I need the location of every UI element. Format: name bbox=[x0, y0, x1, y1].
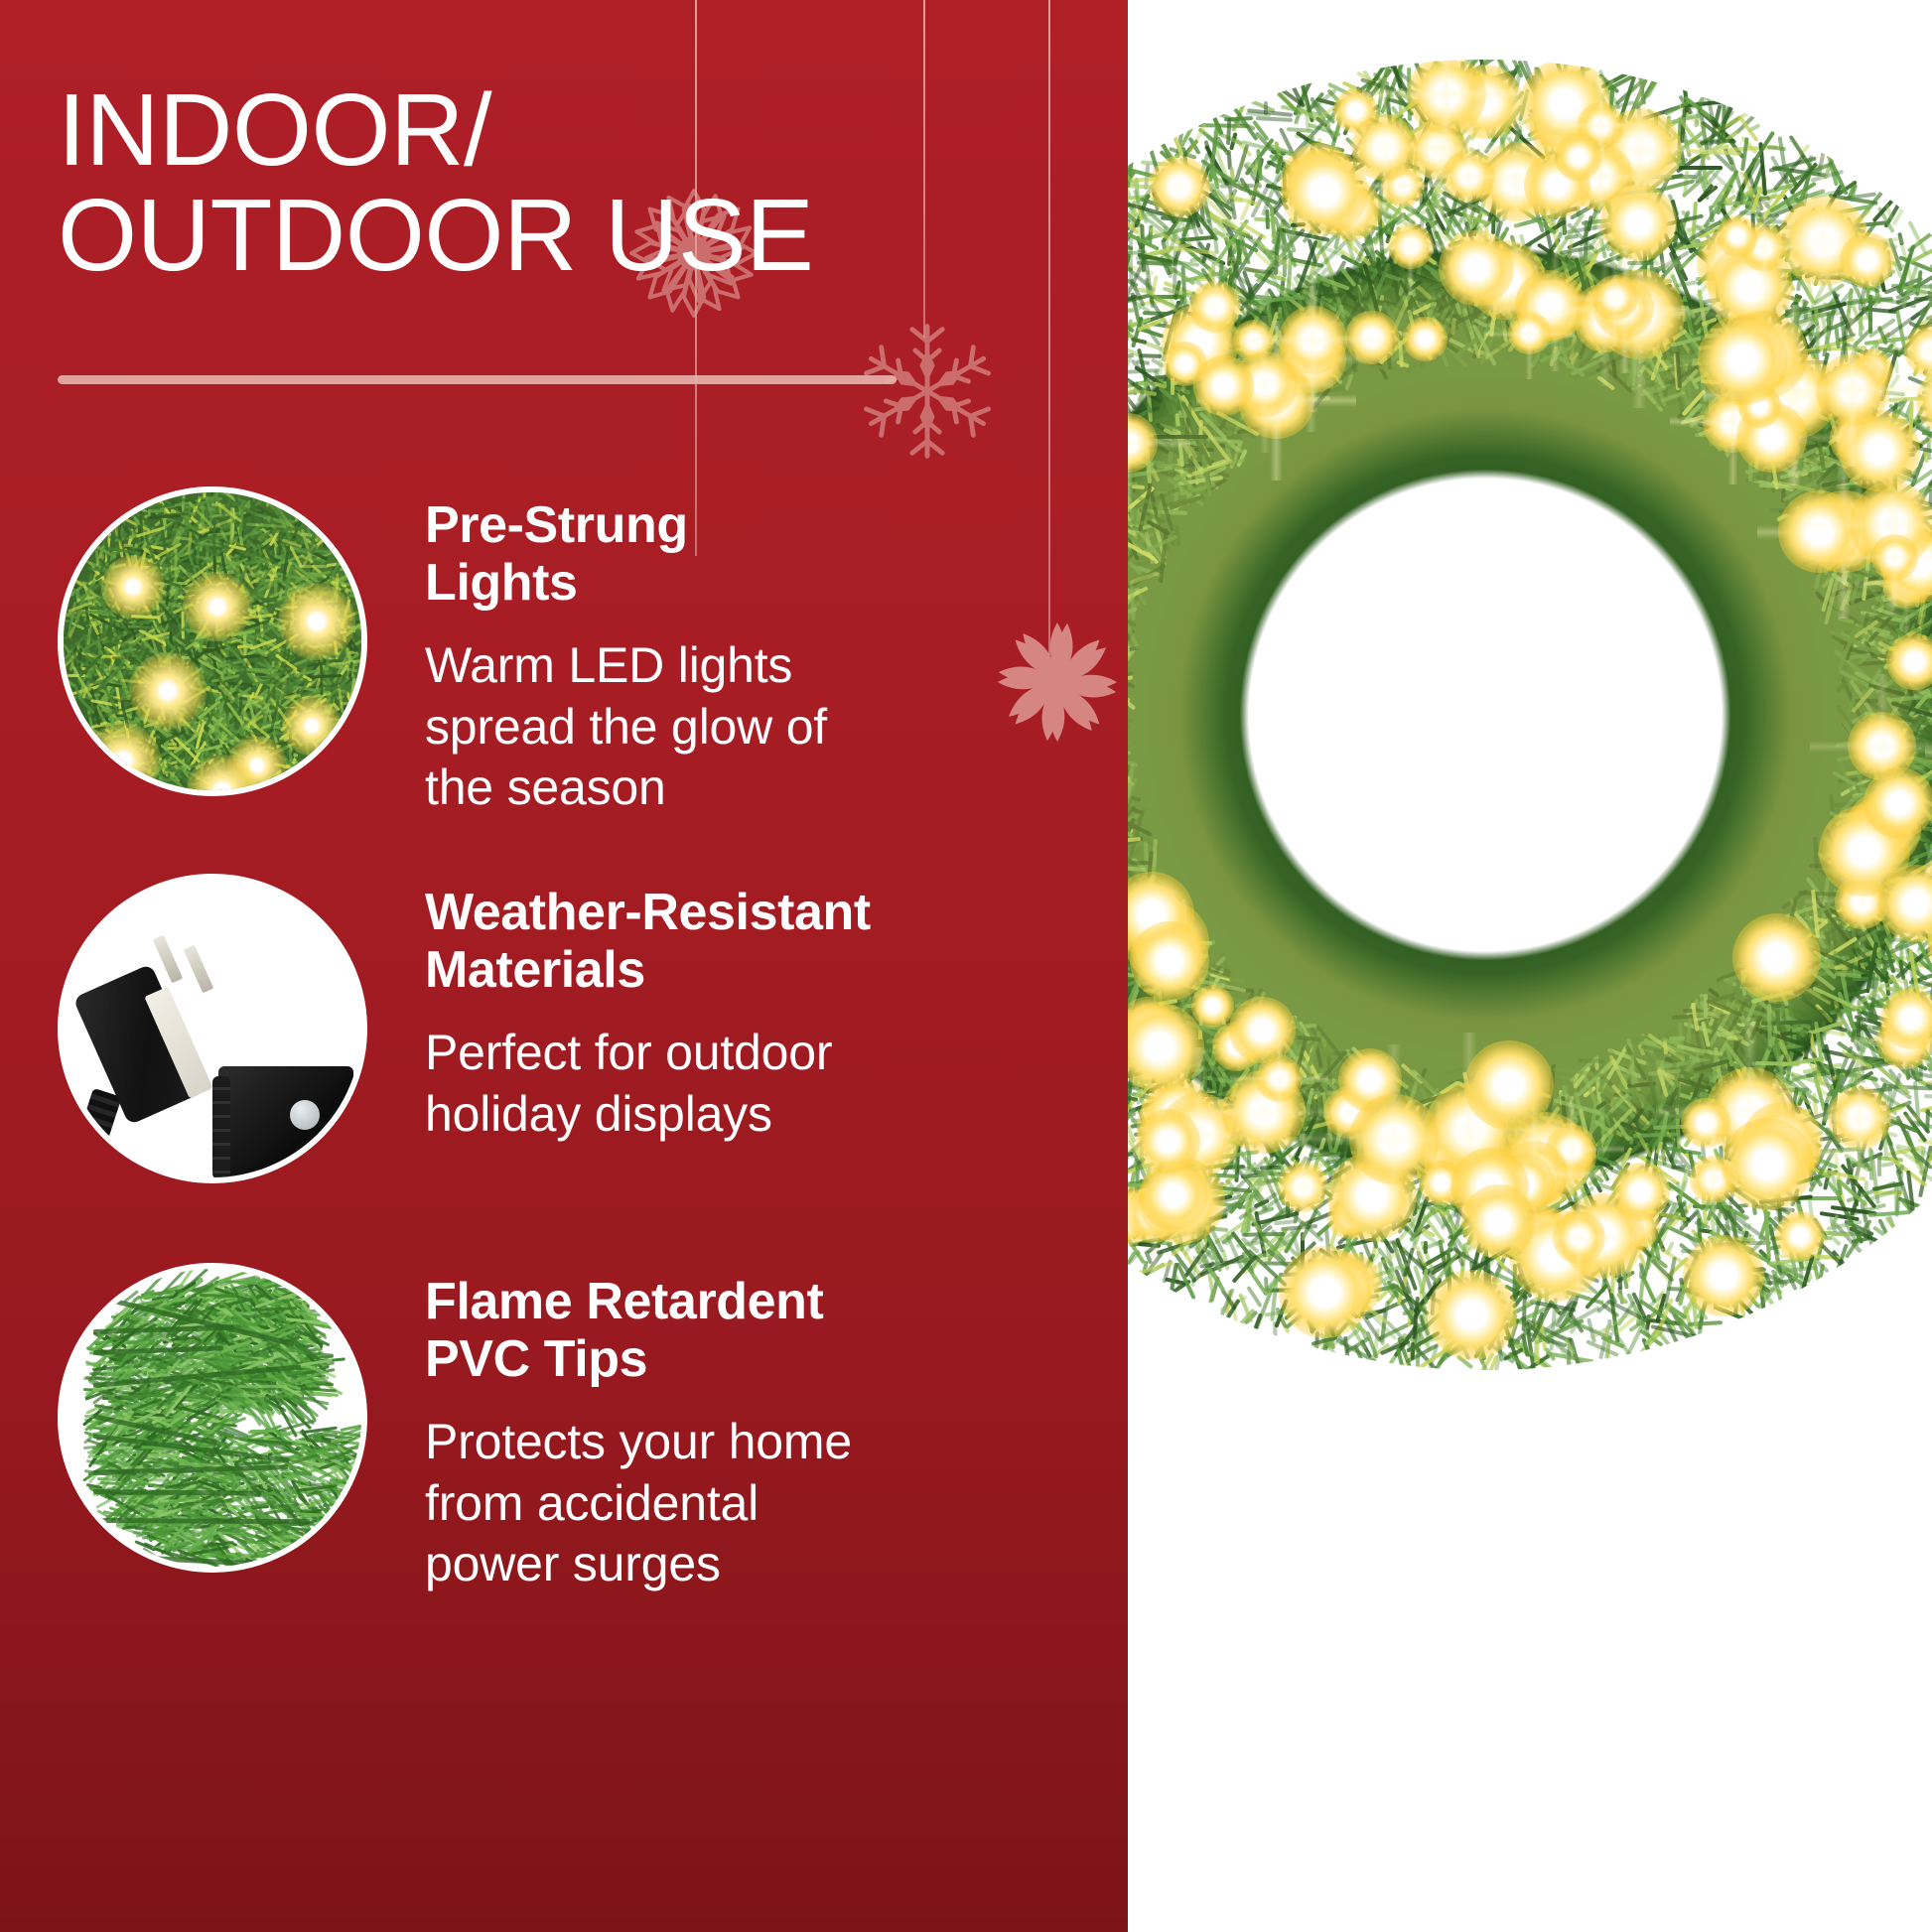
feature-text-block: Pre-Strung Lights Warm LED lights spread… bbox=[425, 486, 1021, 819]
prelit-christmas-wreath bbox=[1128, 60, 1932, 1370]
plug-prong-2 bbox=[184, 945, 213, 994]
power-cord bbox=[63, 1088, 121, 1183]
title-block: INDOOR/ OUTDOOR USE bbox=[58, 77, 1050, 288]
feature-body: Warm LED lights spread the glow of the s… bbox=[425, 635, 1021, 819]
feature-heading: Weather-Resistant Materials bbox=[425, 884, 1021, 999]
red-feature-panel: INDOOR/ OUTDOOR USE Pre-Strung Lights Wa… bbox=[0, 0, 1128, 1932]
plug-prong-1 bbox=[153, 935, 183, 984]
hero-image-area bbox=[1128, 0, 1932, 1932]
feature-body: Perfect for outdoor holiday displays bbox=[425, 1023, 1021, 1145]
page-title: INDOOR/ OUTDOOR USE bbox=[58, 77, 1050, 288]
feature-text-block: Weather-Resistant Materials Perfect for … bbox=[425, 874, 1021, 1145]
feature-text-block: Flame Retardent PVC Tips Protects your h… bbox=[425, 1263, 1021, 1595]
title-divider bbox=[58, 375, 897, 384]
feature-body: Protects your home from accidental power… bbox=[425, 1412, 1021, 1595]
control-box-ridge bbox=[212, 1076, 230, 1179]
control-button[interactable] bbox=[290, 1100, 320, 1130]
lit-pine-branches-photo bbox=[58, 486, 367, 796]
feature-heading: Flame Retardent PVC Tips bbox=[425, 1273, 1021, 1388]
pvc-tips-photo bbox=[58, 1263, 367, 1573]
feature-heading: Pre-Strung Lights bbox=[425, 496, 1021, 612]
infographic-root: INDOOR/ OUTDOOR USE Pre-Strung Lights Wa… bbox=[0, 0, 1932, 1932]
feature-item-flame-retardent: Flame Retardent PVC Tips Protects your h… bbox=[58, 1263, 1070, 1595]
pvc-needle-texture bbox=[64, 1269, 361, 1567]
feature-item-pre-strung-lights: Pre-Strung Lights Warm LED lights spread… bbox=[58, 486, 1070, 819]
control-box bbox=[218, 1066, 353, 1183]
wreath-led-lights bbox=[1128, 60, 1932, 1370]
power-adapter-photo bbox=[58, 874, 367, 1183]
crystal-snowflake-icon bbox=[852, 316, 1003, 467]
feature-item-weather-resistant: Weather-Resistant Materials Perfect for … bbox=[58, 874, 1070, 1183]
led-bulbs bbox=[64, 492, 361, 790]
